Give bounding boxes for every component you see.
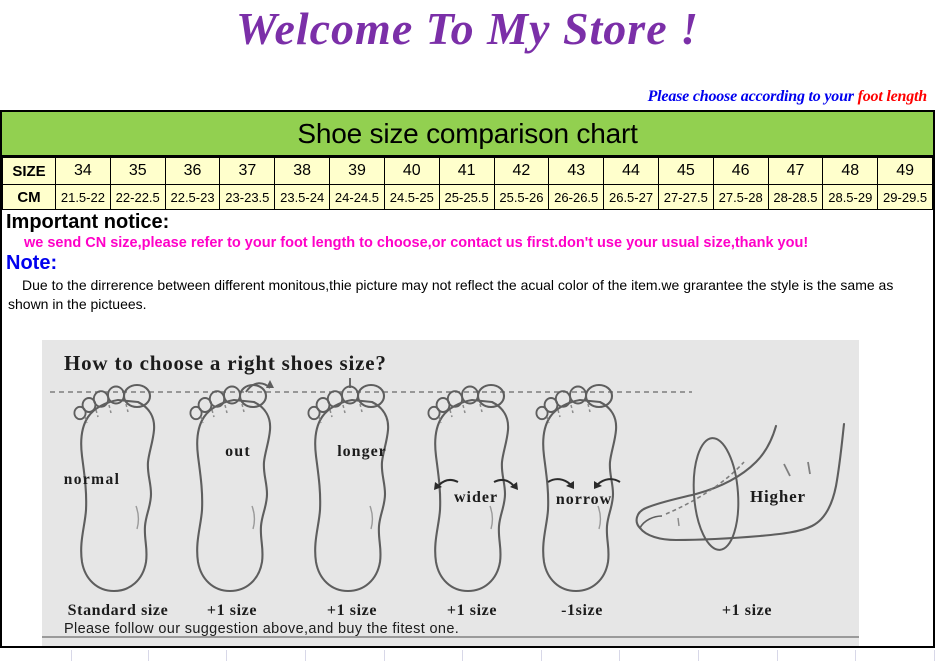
cell-size: 43	[549, 158, 604, 185]
choose-instruction: Please choose according to your foot len…	[648, 88, 927, 106]
cell-cm: 21.5-22	[56, 185, 111, 210]
size-comparison-table: SIZE 34 35 36 37 38 39 40 41 42 43 44 45…	[2, 157, 933, 210]
cell-size: 39	[330, 158, 385, 185]
note-heading: Note:	[6, 252, 929, 274]
note-body: Due to the dirrerence between different …	[6, 274, 929, 314]
diagram-footer: Please follow our suggestion above,and b…	[64, 621, 459, 637]
cell-cm: 24.5-25	[384, 185, 439, 210]
row-header-size: SIZE	[3, 158, 56, 185]
choose-instruction-text: Please choose according to your	[648, 88, 858, 105]
cell-cm: 23-23.5	[220, 185, 275, 210]
cell-cm: 27-27.5	[658, 185, 713, 210]
foot-size-diagram-svg: How to choose a right shoes size? normal…	[42, 340, 859, 646]
foot-label-norrow: norrow	[556, 491, 612, 508]
gridline-cell	[542, 650, 621, 661]
store-size-chart-page: Welcome To My Store ! Please choose acco…	[0, 0, 935, 661]
foot-size-label-plus1-a: +1 size	[207, 602, 257, 619]
gridline-cell	[778, 650, 857, 661]
cell-cm: 23.5-24	[275, 185, 330, 210]
chart-block: Shoe size comparison chart SIZE 34 35 36…	[0, 110, 935, 648]
foot-size-diagram: How to choose a right shoes size? normal…	[42, 340, 859, 646]
foot-label-out: out	[225, 443, 251, 460]
foot-size-label-plus1-c: +1 size	[447, 602, 497, 619]
table-row-cm: CM 21.5-22 22-22.5 22.5-23 23-23.5 23.5-…	[3, 185, 933, 210]
cell-size: 44	[604, 158, 659, 185]
cell-size: 48	[823, 158, 878, 185]
cell-size: 35	[110, 158, 165, 185]
cell-size: 45	[658, 158, 713, 185]
gridline-cell	[856, 650, 935, 661]
cell-cm: 25.5-26	[494, 185, 549, 210]
diagram-heading: How to choose a right shoes size?	[64, 351, 387, 375]
row-header-cm: CM	[3, 185, 56, 210]
important-notice-heading: Important notice:	[6, 212, 929, 234]
important-notice-body: we send CN size,please refer to your foo…	[6, 234, 929, 252]
cell-cm: 24-24.5	[330, 185, 385, 210]
cell-size: 41	[439, 158, 494, 185]
gridline-cell	[227, 650, 306, 661]
notice-area: Important notice: we send CN size,please…	[2, 210, 933, 314]
cell-cm: 28.5-29	[823, 185, 878, 210]
gridline-cell	[149, 650, 228, 661]
foot-size-label-minus1: -1size	[561, 602, 603, 619]
foot-label-normal: normal	[64, 471, 121, 488]
cell-size: 38	[275, 158, 330, 185]
choose-instruction-highlight: foot length	[858, 88, 927, 105]
foot-size-label-plus1-b: +1 size	[327, 602, 377, 619]
cell-size: 40	[384, 158, 439, 185]
foot-label-longer: longer	[337, 443, 387, 460]
foot-size-label-standard: Standard size	[68, 602, 169, 619]
diagram-background	[42, 340, 859, 646]
gridline-cell	[0, 650, 72, 661]
foot-label-higher: Higher	[750, 487, 806, 506]
cell-cm: 26.5-27	[604, 185, 659, 210]
cell-cm: 29-29.5	[878, 185, 933, 210]
cell-cm: 26-26.5	[549, 185, 604, 210]
gridline-cell	[463, 650, 542, 661]
chart-title: Shoe size comparison chart	[297, 118, 637, 150]
gridline-cell	[620, 650, 699, 661]
cell-size: 49	[878, 158, 933, 185]
banner: Welcome To My Store ! Please choose acco…	[0, 0, 935, 110]
cell-cm: 28-28.5	[768, 185, 823, 210]
gridline-cell	[72, 650, 149, 661]
cell-size: 42	[494, 158, 549, 185]
cell-cm: 22.5-23	[165, 185, 220, 210]
foot-label-wider: wider	[454, 489, 498, 506]
chart-title-band: Shoe size comparison chart	[2, 112, 933, 157]
cell-size: 36	[165, 158, 220, 185]
page-title: Welcome To My Store !	[0, 2, 935, 55]
gridline-cell	[699, 650, 778, 661]
cell-size: 34	[56, 158, 111, 185]
cell-size: 37	[220, 158, 275, 185]
cell-cm: 27.5-28	[713, 185, 768, 210]
gridline-cell	[385, 650, 464, 661]
cell-cm: 25-25.5	[439, 185, 494, 210]
cell-cm: 22-22.5	[110, 185, 165, 210]
cell-size: 47	[768, 158, 823, 185]
table-row-size: SIZE 34 35 36 37 38 39 40 41 42 43 44 45…	[3, 158, 933, 185]
foot-size-label-plus1-d: +1 size	[722, 602, 772, 619]
cell-size: 46	[713, 158, 768, 185]
bottom-gridline-strip	[0, 650, 935, 661]
gridline-cell	[306, 650, 385, 661]
